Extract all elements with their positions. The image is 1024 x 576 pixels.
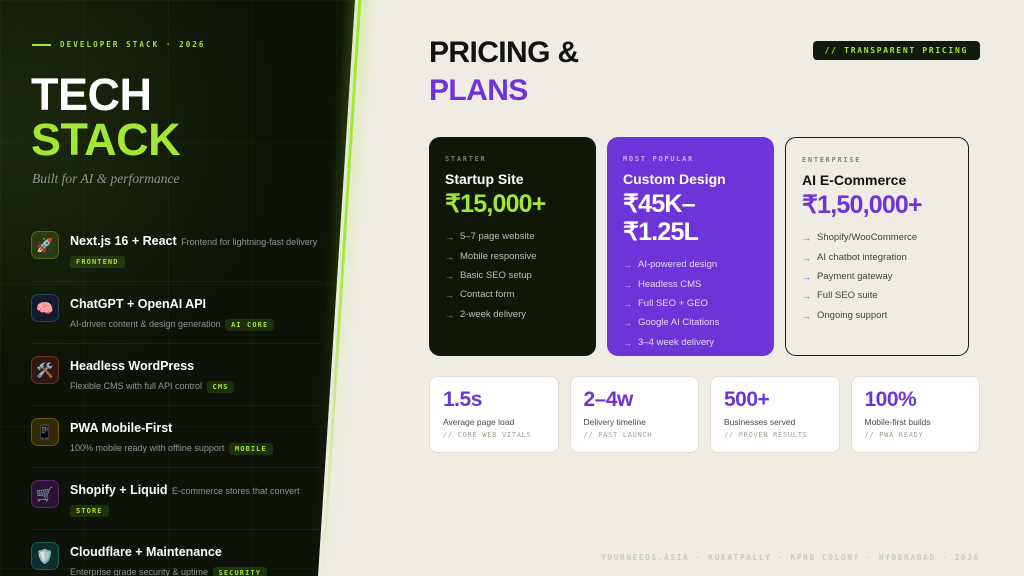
stat-card-businesses-served: 500+ Businesses served // PROVEN RESULTS (710, 376, 840, 453)
feature-item: →Basic SEO setup (445, 270, 580, 282)
arrow-right-icon: → (802, 252, 811, 264)
arrow-right-icon: → (802, 271, 811, 283)
pricing-card-most-popular[interactable]: MOST POPULAR Custom Design ₹45K–₹1.25L →… (607, 137, 774, 356)
feature-label: Shopify/WooCommerce (817, 232, 917, 244)
feature-label: AI-powered design (638, 259, 717, 271)
feature-label: Contact form (460, 289, 514, 301)
presentation-slide: DEVELOPER STACK · 2026 TECH STACK Built … (0, 0, 1024, 576)
footer-text: YOURNEEDS.ASIA · KUKATPALLY · KPHB COLON… (601, 553, 980, 562)
right-content: PRICING & PLANS // TRANSPARENT PRICING S… (0, 0, 1024, 576)
section-heading-line-1: PRICING & (429, 38, 579, 68)
arrow-right-icon: → (445, 231, 454, 243)
feature-item: →Headless CMS (623, 279, 758, 291)
pricing-card-price: ₹1,50,000+ (802, 191, 952, 219)
stat-note: // PROVEN RESULTS (724, 431, 827, 439)
pricing-card-features: →5–7 page website →Mobile responsive →Ba… (445, 231, 580, 321)
arrow-right-icon: → (445, 270, 454, 282)
pricing-card-label: MOST POPULAR (623, 155, 758, 163)
feature-item: →AI-powered design (623, 259, 758, 271)
pricing-card-features: →AI-powered design →Headless CMS →Full S… (623, 259, 758, 349)
pricing-card-features: →Shopify/WooCommerce →AI chatbot integra… (802, 232, 952, 322)
pricing-card-title: AI E-Commerce (802, 173, 952, 188)
stat-label: Mobile-first builds (865, 417, 968, 427)
arrow-right-icon: → (445, 289, 454, 301)
feature-item: →Google AI Citations (623, 317, 758, 329)
feature-item: →2-week delivery (445, 309, 580, 321)
stat-card-delivery-timeline: 2–4w Delivery timeline // FAST LAUNCH (570, 376, 700, 453)
feature-item: →3–4 week delivery (623, 337, 758, 349)
arrow-right-icon: → (623, 337, 632, 349)
feature-label: 5–7 page website (460, 231, 534, 243)
stat-note: // FAST LAUNCH (584, 431, 687, 439)
arrow-right-icon: → (445, 309, 454, 321)
feature-label: Payment gateway (817, 271, 893, 283)
feature-label: Google AI Citations (638, 317, 719, 329)
stat-value: 2–4w (584, 389, 687, 411)
feature-item: →Payment gateway (802, 271, 952, 283)
stat-label: Businesses served (724, 417, 827, 427)
feature-item: →Contact form (445, 289, 580, 301)
feature-item: →Ongoing support (802, 310, 952, 322)
stat-card-page-load: 1.5s Average page load // CORE WEB VITAL… (429, 376, 559, 453)
stat-label: Average page load (443, 417, 546, 427)
pricing-card-enterprise[interactable]: ENTERPRISE AI E-Commerce ₹1,50,000+ →Sho… (785, 137, 969, 356)
pricing-card-label: ENTERPRISE (802, 156, 952, 164)
feature-item: →Full SEO suite (802, 290, 952, 302)
feature-label: Full SEO + GEO (638, 298, 708, 310)
pricing-card-title: Custom Design (623, 172, 758, 187)
stat-value: 100% (865, 389, 968, 411)
stat-value: 500+ (724, 389, 827, 411)
stat-note: // PWA READY (865, 431, 968, 439)
stat-card-mobile-first: 100% Mobile-first builds // PWA READY (851, 376, 981, 453)
pricing-card-price: ₹15,000+ (445, 190, 580, 218)
feature-label: 2-week delivery (460, 309, 526, 321)
arrow-right-icon: → (623, 259, 632, 271)
feature-item: →5–7 page website (445, 231, 580, 243)
feature-label: Headless CMS (638, 279, 701, 291)
stat-label: Delivery timeline (584, 417, 687, 427)
stat-note: // CORE WEB VITALS (443, 431, 546, 439)
arrow-right-icon: → (623, 298, 632, 310)
pricing-cards: STARTER Startup Site ₹15,000+ →5–7 page … (429, 137, 980, 356)
feature-label: Basic SEO setup (460, 270, 532, 282)
feature-item: →Full SEO + GEO (623, 298, 758, 310)
pricing-card-starter[interactable]: STARTER Startup Site ₹15,000+ →5–7 page … (429, 137, 596, 356)
feature-item: →Mobile responsive (445, 251, 580, 263)
feature-item: →AI chatbot integration (802, 252, 952, 264)
stat-value: 1.5s (443, 389, 546, 411)
pricing-card-title: Startup Site (445, 172, 580, 187)
arrow-right-icon: → (802, 290, 811, 302)
feature-label: Mobile responsive (460, 251, 537, 263)
feature-label: Full SEO suite (817, 290, 878, 302)
arrow-right-icon: → (802, 310, 811, 322)
feature-item: →Shopify/WooCommerce (802, 232, 952, 244)
pricing-card-price: ₹45K–₹1.25L (623, 190, 758, 246)
stat-cards: 1.5s Average page load // CORE WEB VITAL… (429, 376, 980, 453)
feature-label: AI chatbot integration (817, 252, 907, 264)
section-heading-line-2: PLANS (429, 76, 528, 106)
transparent-pricing-badge: // TRANSPARENT PRICING (813, 41, 980, 60)
arrow-right-icon: → (802, 232, 811, 244)
feature-label: 3–4 week delivery (638, 337, 714, 349)
arrow-right-icon: → (623, 317, 632, 329)
arrow-right-icon: → (445, 251, 454, 263)
pricing-card-label: STARTER (445, 155, 580, 163)
feature-label: Ongoing support (817, 310, 887, 322)
arrow-right-icon: → (623, 279, 632, 291)
